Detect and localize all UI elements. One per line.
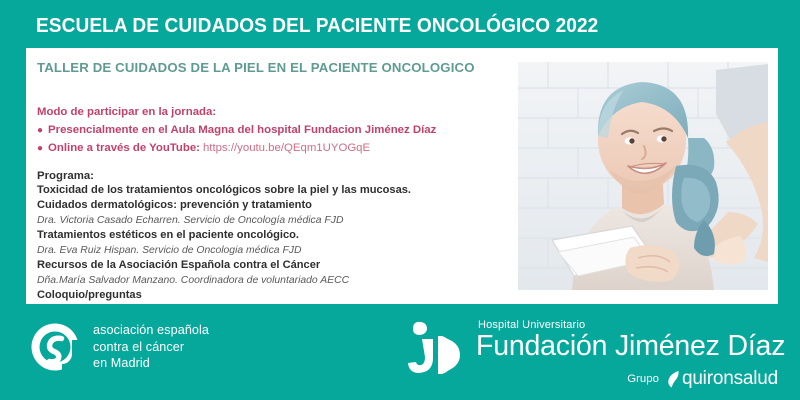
program-item-title: Cuidados dermatológicos: prevención y tr… (37, 198, 507, 213)
program-item-title: Recursos de la Asociación Española contr… (37, 258, 507, 273)
participation-online-text: Online a través de YouTube: (48, 141, 200, 155)
patient-photo (518, 62, 768, 290)
quironsalud-wordmark: quironsalud (682, 368, 778, 390)
workshop-subtitle: TALLER DE CUIDADOS DE LA PIEL EN EL PACI… (37, 60, 475, 75)
list-item: ● Online a través de YouTube: https://yo… (37, 141, 507, 155)
content-card: TALLER DE CUIDADOS DE LA PIEL EN EL PACI… (22, 48, 778, 304)
card-accent-bar (22, 48, 26, 304)
program-item-title: Tratamientos estéticos en el paciente on… (37, 228, 507, 243)
program-item-speaker: Dra. Eva Ruiz Hispan. Servicio de Oncolo… (37, 244, 507, 259)
aecc-logo: asociación española contra el cáncer en … (28, 320, 209, 374)
jd-monogram-icon (408, 320, 470, 376)
aecc-wordmark: asociación española contra el cáncer en … (93, 322, 209, 372)
aecc-c-logo-icon (28, 320, 82, 374)
program-heading: Programa: (37, 170, 507, 182)
aecc-line-3: en Madrid (93, 355, 209, 372)
program-section: Programa: Toxicidad de los tratamientos … (37, 170, 507, 304)
program-item-title: Toxicidad de los tratamientos oncológico… (37, 183, 507, 198)
aecc-line-2: contra el cáncer (93, 339, 209, 356)
program-item-speaker: Dra. Victoria Casado Echarren. Servicio … (37, 214, 507, 229)
fjd-logo: Hospital Universitario Fundación Jiménez… (408, 316, 780, 392)
participation-section: Modo de participar en la jornada: ● Pres… (37, 106, 507, 160)
participation-onsite-text: Presencialmente en el Aula Magna del hos… (48, 123, 436, 137)
program-item-title: Coloquio/preguntas (37, 288, 507, 303)
page-title: ESCUELA DE CUIDADOS DEL PACIENTE ONCOLÓG… (36, 14, 598, 38)
participation-heading: Modo de participar en la jornada: (37, 106, 507, 118)
group-label: Grupo (627, 373, 659, 385)
bullet-dot-icon: ● (37, 144, 43, 154)
fjd-name: Fundación Jiménez Díaz (476, 330, 785, 363)
bullet-dot-icon: ● (37, 126, 43, 136)
quironsalud-group: Grupo quironsalud (627, 368, 778, 390)
aecc-line-1: asociación española (93, 322, 209, 339)
youtube-link[interactable]: https://youtu.be/QEqm1UYOGqE (203, 141, 370, 155)
program-item-speaker: Dña.María Salvador Manzano. Coordinadora… (37, 274, 507, 289)
quironsalud-leaf-icon (667, 371, 681, 388)
poster-root: ESCUELA DE CUIDADOS DEL PACIENTE ONCOLÓG… (0, 0, 800, 400)
list-item: ● Presencialmente en el Aula Magna del h… (37, 123, 507, 137)
